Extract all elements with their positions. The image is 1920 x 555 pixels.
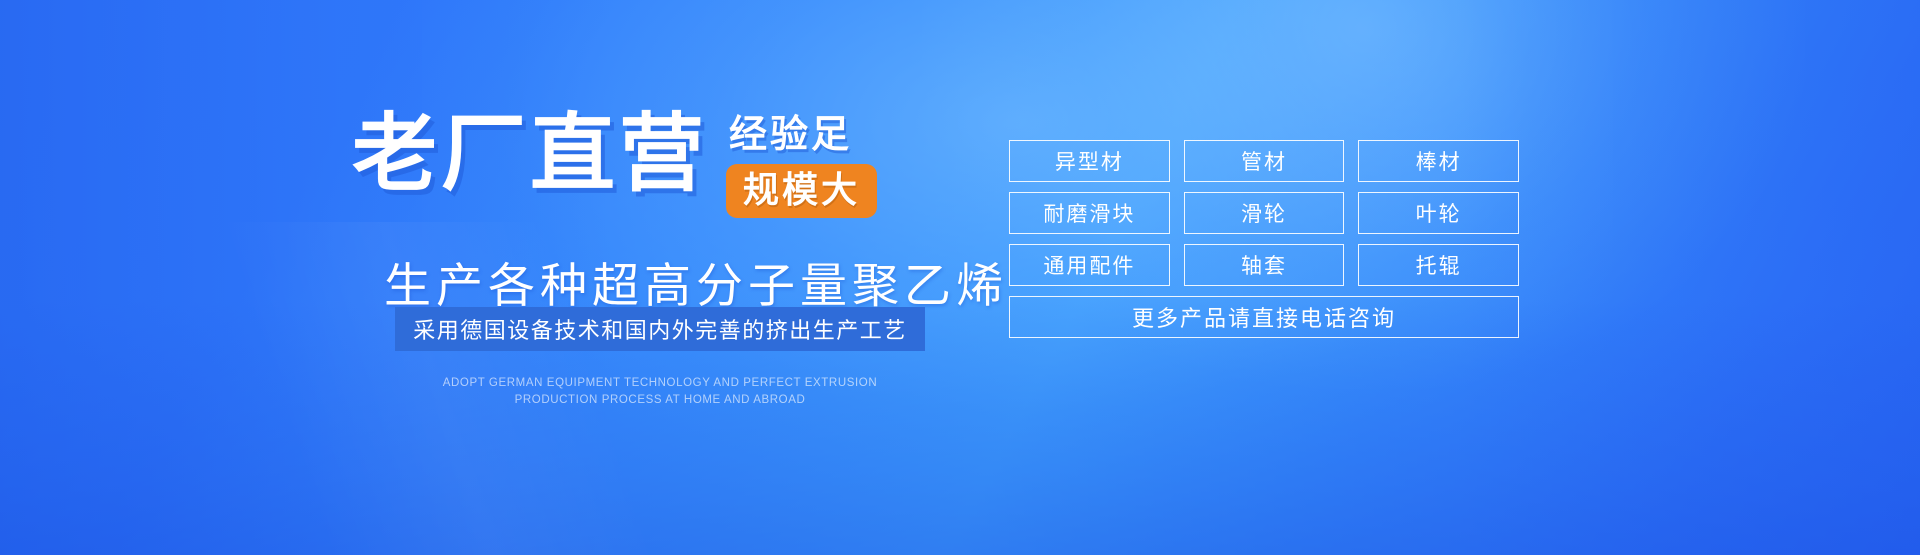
product-chip-naimohuakuai[interactable]: 耐磨滑块 [1009, 192, 1170, 234]
product-row-3: 通用配件 轴套 托辊 [1009, 244, 1519, 286]
banner-text-block: 老厂直营 经验足 规模大 生产各种超高分子量聚乙烯 采用德国设备技术和国内外完善… [0, 0, 1000, 555]
headline-title: 老厂直营 [352, 112, 708, 197]
promo-banner: 老厂直营 经验足 规模大 生产各种超高分子量聚乙烯 采用德国设备技术和国内外完善… [0, 0, 1920, 555]
product-chip-bangcai[interactable]: 棒材 [1358, 140, 1519, 182]
badge-scale: 规模大 [726, 164, 877, 218]
subheadline: 生产各种超高分子量聚乙烯 [384, 247, 1008, 316]
headline-badge-group: 经验足 规模大 [726, 116, 877, 218]
tagline-bar: 采用德国设备技术和国内外完善的挤出生产工艺 [395, 307, 925, 351]
product-chip-guancai[interactable]: 管材 [1184, 140, 1345, 182]
badge-experience: 经验足 [726, 116, 877, 156]
product-chip-zhoutao[interactable]: 轴套 [1184, 244, 1345, 286]
product-chip-tongyongpeijian[interactable]: 通用配件 [1009, 244, 1170, 286]
product-chip-tuogun[interactable]: 托辊 [1358, 244, 1519, 286]
headline-group: 老厂直营 经验足 规模大 [352, 112, 877, 218]
product-row-1: 异型材 管材 棒材 [1009, 140, 1519, 182]
product-category-grid: 异型材 管材 棒材 耐磨滑块 滑轮 叶轮 通用配件 轴套 托辊 更多产品请直接电… [1009, 140, 1519, 338]
product-chip-hualun[interactable]: 滑轮 [1184, 192, 1345, 234]
english-tagline: ADOPT GERMAN EQUIPMENT TECHNOLOGY AND PE… [395, 375, 925, 409]
contact-cta-button[interactable]: 更多产品请直接电话咨询 [1009, 296, 1519, 338]
product-chip-yixingcai[interactable]: 异型材 [1009, 140, 1170, 182]
tagline-text: 采用德国设备技术和国内外完善的挤出生产工艺 [413, 313, 907, 345]
english-tagline-line1: ADOPT GERMAN EQUIPMENT TECHNOLOGY AND PE… [395, 375, 925, 392]
product-chip-yelun[interactable]: 叶轮 [1358, 192, 1519, 234]
product-row-2: 耐磨滑块 滑轮 叶轮 [1009, 192, 1519, 234]
english-tagline-line2: PRODUCTION PROCESS AT HOME AND ABROAD [395, 392, 925, 409]
